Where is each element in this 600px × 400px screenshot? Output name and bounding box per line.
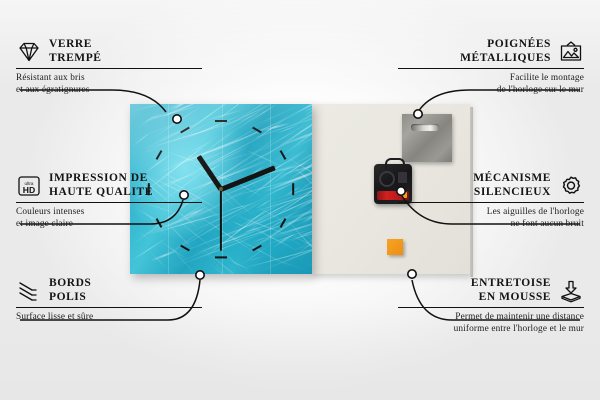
- feature-subtitle: Couleurs intenses et image claire: [16, 207, 202, 230]
- svg-text:HD: HD: [23, 185, 35, 195]
- feature-header: POIGNÉES MÉTALLIQUES: [398, 38, 584, 65]
- panel-seam: [270, 104, 271, 274]
- feature-title: VERRE TREMPÉ: [49, 38, 102, 65]
- arrow-down-onto-layer-icon: [558, 279, 584, 303]
- feature-bords-polis[interactable]: BORDS POLIS Surface lisse et sûre: [16, 277, 202, 324]
- feature-title: BORDS POLIS: [49, 277, 91, 304]
- feature-impression-haute-qualite[interactable]: ultra HD IMPRESSION DE HAUTE QUALITÉ Cou…: [16, 172, 202, 230]
- feature-entretoise-en-mousse[interactable]: ENTRETOISE EN MOUSSE Permet de maintenir…: [398, 277, 584, 335]
- feature-subtitle: Les aiguilles de l'horloge ne font aucun…: [398, 207, 584, 230]
- ultra-hd-icon: ultra HD: [16, 174, 42, 198]
- clock-tick: [292, 183, 294, 195]
- second-hand: [220, 189, 222, 251]
- hanger-slot: [411, 124, 439, 131]
- divider: [16, 202, 202, 203]
- feature-verre-trempe[interactable]: VERRE TREMPÉ Résistant aux bris et aux é…: [16, 38, 202, 96]
- feature-header: MÉCANISME SILENCIEUX: [398, 172, 584, 199]
- metal-hanger-plate: [402, 114, 452, 162]
- gear-icon: [558, 174, 584, 198]
- feature-subtitle: Surface lisse et sûre: [16, 312, 202, 323]
- feature-mecanisme-silencieux[interactable]: MÉCANISME SILENCIEUX Les aiguilles de l'…: [398, 172, 584, 230]
- clock-tick: [215, 256, 227, 258]
- feature-subtitle: Permet de maintenir une distance uniform…: [398, 312, 584, 335]
- feature-header: BORDS POLIS: [16, 277, 202, 304]
- foam-spacer: [387, 239, 403, 255]
- clock-tick: [215, 120, 227, 122]
- feature-header: VERRE TREMPÉ: [16, 38, 202, 65]
- feature-title: MÉCANISME SILENCIEUX: [473, 172, 551, 199]
- divider: [16, 68, 202, 69]
- divider: [398, 68, 584, 69]
- mechanism-loop: [385, 158, 405, 169]
- feature-title: IMPRESSION DE HAUTE QUALITÉ: [49, 172, 153, 199]
- picture-frame-hanging-icon: [558, 40, 584, 64]
- feature-title: ENTRETOISE EN MOUSSE: [471, 277, 551, 304]
- divider: [398, 307, 584, 308]
- feature-subtitle: Résistant aux bris et aux égratignures: [16, 73, 202, 96]
- polished-edges-icon: [16, 279, 42, 303]
- divider: [16, 307, 202, 308]
- mechanism-dial: [379, 171, 395, 187]
- divider: [398, 202, 584, 203]
- feature-title: POIGNÉES MÉTALLIQUES: [460, 38, 551, 65]
- infographic-canvas: VERRE TREMPÉ Résistant aux bris et aux é…: [0, 0, 600, 400]
- feature-poignees-metalliques[interactable]: POIGNÉES MÉTALLIQUES Facilite le montage…: [398, 38, 584, 96]
- feature-subtitle: Facilite le montage de l'horloge sur le …: [398, 73, 584, 96]
- clock-hub: [219, 187, 223, 191]
- feature-header: ultra HD IMPRESSION DE HAUTE QUALITÉ: [16, 172, 202, 199]
- feature-header: ENTRETOISE EN MOUSSE: [398, 277, 584, 304]
- diamond-icon: [16, 40, 42, 64]
